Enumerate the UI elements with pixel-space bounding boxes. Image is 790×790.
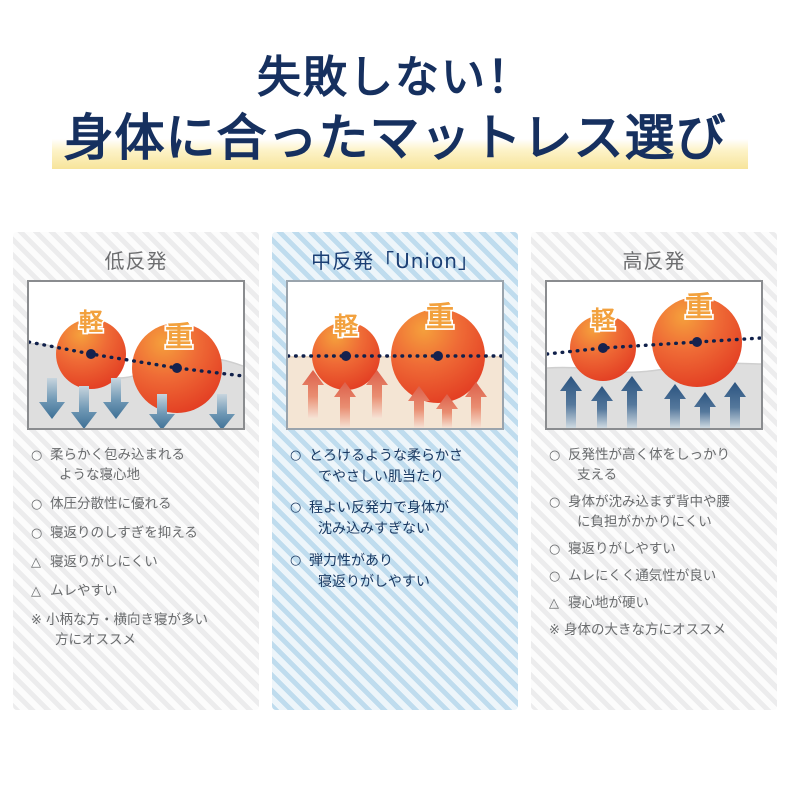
bullet-mark: ○ xyxy=(31,446,47,465)
bullet-mark: ○ xyxy=(549,493,565,512)
bullet-mark: ※ xyxy=(31,611,46,630)
bullet-text: 寝返りのしすぎを抑える xyxy=(50,524,243,544)
bullet-item: ○ ムレにくく通気性が良い xyxy=(549,567,761,587)
bullet-text: 身体が沈み込まず背中や腰 に負担がかかりにくい xyxy=(568,493,761,533)
panel-heading-high: 高反発 xyxy=(543,246,765,280)
bullet-list-low: ○ 柔らかく包み込まれる ような寝心地 ○ 体圧分散性に優れる ○ 寝返りのしす… xyxy=(25,446,247,651)
diagram-label-light: 軽 xyxy=(591,306,616,334)
bullet-item: ○ 寝返りのしすぎを抑える xyxy=(31,524,243,544)
bullet-mark: ○ xyxy=(549,540,565,559)
page-title: 失敗しない！ 身体に合ったマットレス選び xyxy=(0,54,790,170)
bullet-text: 寝返りがしやすい xyxy=(568,540,761,560)
bullet-text: ムレにくく通気性が良い xyxy=(568,567,761,587)
bullet-text: 弾力性があり 寝返りがしやすい xyxy=(309,551,502,592)
bullet-item: ○ とろけるような柔らかさ でやさしい肌当たり xyxy=(290,446,502,487)
bullet-mark: ○ xyxy=(290,551,306,570)
bullet-mark: ○ xyxy=(549,567,565,586)
bullet-item: ○ 寝返りがしやすい xyxy=(549,540,761,560)
bullet-text: 寝返りがしにくい xyxy=(50,553,243,573)
comparison-panels: 低反発 xyxy=(0,232,790,710)
bullet-item: ○ 体圧分散性に優れる xyxy=(31,495,243,515)
title-line-1: 失敗しない！ xyxy=(0,54,790,102)
panel-low-resilience: 低反発 xyxy=(13,232,259,710)
bullet-mark: ○ xyxy=(290,498,306,517)
bullet-mark: ○ xyxy=(549,446,565,465)
diagram-label-heavy: 重 xyxy=(426,300,454,333)
diagram-label-heavy: 重 xyxy=(165,320,193,353)
panel-medium-resilience-union: 中反発「Union」 xyxy=(272,232,518,710)
title-line-2: 身体に合ったマットレス選び xyxy=(0,108,790,168)
bullet-mark: ○ xyxy=(31,495,47,514)
diagram-label-light: 軽 xyxy=(79,308,104,336)
bullet-text: ムレやすい xyxy=(50,582,243,602)
diagram-high-resilience: 軽 重 xyxy=(545,280,763,430)
bullet-text: 柔らかく包み込まれる ような寝心地 xyxy=(50,446,243,486)
diagram-label-light: 軽 xyxy=(334,312,359,340)
bullet-note: ※ 小柄な方・横向き寝が多い 方にオススメ xyxy=(31,611,243,651)
bullet-mark: ○ xyxy=(31,524,47,543)
panel-heading-medium: 中反発「Union」 xyxy=(284,246,506,280)
bullet-mark: △ xyxy=(31,582,47,601)
bullet-item: △ 寝心地が硬い xyxy=(549,594,761,614)
bullet-text: 小柄な方・横向き寝が多い 方にオススメ xyxy=(46,611,243,651)
bullet-text: 身体の大きな方にオススメ xyxy=(564,621,761,641)
bullet-text: 程よい反発力で身体が 沈み込みすぎない xyxy=(309,498,502,539)
bullet-item: ○ 弾力性があり 寝返りがしやすい xyxy=(290,551,502,592)
bullet-text: 寝心地が硬い xyxy=(568,594,761,614)
bullet-note: ※ 身体の大きな方にオススメ xyxy=(549,621,761,641)
bullet-list-medium: ○ とろけるような柔らかさ でやさしい肌当たり ○ 程よい反発力で身体が 沈み込… xyxy=(284,446,506,592)
diagram-medium-resilience: 軽 重 xyxy=(286,280,504,430)
bullet-item: ○ 身体が沈み込まず背中や腰 に負担がかかりにくい xyxy=(549,493,761,533)
title-line-2-wrapper: 身体に合ったマットレス選び xyxy=(0,108,790,170)
bullet-text: とろけるような柔らかさ でやさしい肌当たり xyxy=(309,446,502,487)
bullet-mark: ○ xyxy=(290,446,306,465)
bullet-item: ○ 反発性が高く体をしっかり 支える xyxy=(549,446,761,486)
diagram-label-heavy: 重 xyxy=(685,290,713,323)
bullet-item: △ 寝返りがしにくい xyxy=(31,553,243,573)
bullet-item: ○ 程よい反発力で身体が 沈み込みすぎない xyxy=(290,498,502,539)
bullet-mark: △ xyxy=(549,594,565,613)
panel-high-resilience: 高反発 xyxy=(531,232,777,710)
bullet-item: △ ムレやすい xyxy=(31,582,243,602)
diagram-low-resilience: 軽 重 xyxy=(27,280,245,430)
bullet-mark: △ xyxy=(31,553,47,572)
panel-heading-low: 低反発 xyxy=(25,246,247,280)
bullet-text: 反発性が高く体をしっかり 支える xyxy=(568,446,761,486)
bullet-item: ○ 柔らかく包み込まれる ような寝心地 xyxy=(31,446,243,486)
bullet-text: 体圧分散性に優れる xyxy=(50,495,243,515)
bullet-list-high: ○ 反発性が高く体をしっかり 支える ○ 身体が沈み込まず背中や腰 に負担がかか… xyxy=(543,446,765,641)
bullet-mark: ※ xyxy=(549,621,564,640)
